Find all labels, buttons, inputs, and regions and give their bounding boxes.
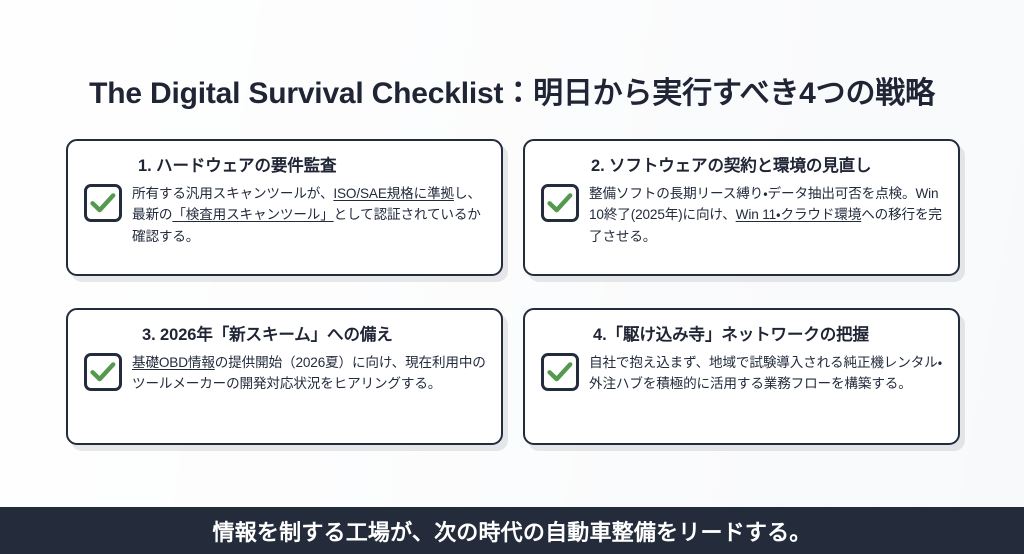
card-heading-2: 2. ソフトウェアの契約と環境の見直し	[591, 156, 945, 177]
check-mark-icon	[547, 192, 573, 214]
checkbox-1[interactable]	[84, 184, 122, 222]
checkbox-wrapper-4	[537, 353, 583, 391]
card-text-1: 所有する汎用スキャンツールが、ISO/SAE規格に準拠し、最新の「検査用スキャン…	[132, 183, 488, 248]
card-heading-3: 3. 2026年「新スキーム」への備え	[142, 325, 488, 346]
check-mark-icon	[547, 361, 573, 383]
card-body-3: 3. 2026年「新スキーム」への備え 基礎OBD情報の提供開始（2026夏）に…	[126, 321, 488, 395]
card-text-4: 自社で抱え込まず、地域で試験導入される純正機レンタル・外注ハブを積極的に活用する…	[589, 352, 945, 395]
bottom-banner: 情報を制する工場が、次の時代の自動車整備をリードする。	[0, 507, 1024, 554]
card-text-3: 基礎OBD情報の提供開始（2026夏）に向け、現在利用中のツールメーカーの開発対…	[132, 352, 488, 395]
checkbox-2[interactable]	[541, 184, 579, 222]
checkbox-3[interactable]	[84, 353, 122, 391]
card-heading-4: 4.「駆け込み寺」ネットワークの把握	[593, 325, 945, 346]
card-body-2: 2. ソフトウェアの契約と環境の見直し 整備ソフトの長期リース縛り・データ抽出可…	[583, 152, 945, 247]
check-mark-icon	[90, 192, 116, 214]
checkbox-wrapper-1	[80, 184, 126, 222]
checklist-card-4[interactable]: 4.「駆け込み寺」ネットワークの把握 自社で抱え込まず、地域で試験導入される純正…	[523, 308, 960, 445]
check-mark-icon	[90, 361, 116, 383]
checkbox-4[interactable]	[541, 353, 579, 391]
checklist-card-grid: 1. ハードウェアの要件監査 所有する汎用スキャンツールが、ISO/SAE規格に…	[66, 139, 960, 445]
banner-text: 情報を制する工場が、次の時代の自動車整備をリードする。	[213, 515, 812, 547]
card-text-2: 整備ソフトの長期リース縛り・データ抽出可否を点検。Win 10終了(2025年)…	[589, 183, 945, 248]
card-body-1: 1. ハードウェアの要件監査 所有する汎用スキャンツールが、ISO/SAE規格に…	[126, 152, 488, 247]
page-title: The Digital Survival Checklist：明日から実行すべき…	[0, 68, 1024, 112]
checklist-card-2[interactable]: 2. ソフトウェアの契約と環境の見直し 整備ソフトの長期リース縛り・データ抽出可…	[523, 139, 960, 276]
checklist-card-3[interactable]: 3. 2026年「新スキーム」への備え 基礎OBD情報の提供開始（2026夏）に…	[66, 308, 503, 445]
checkbox-wrapper-3	[80, 353, 126, 391]
checkbox-wrapper-2	[537, 184, 583, 222]
card-heading-1: 1. ハードウェアの要件監査	[138, 156, 488, 177]
card-body-4: 4.「駆け込み寺」ネットワークの把握 自社で抱え込まず、地域で試験導入される純正…	[583, 321, 945, 395]
slide-canvas: The Digital Survival Checklist：明日から実行すべき…	[0, 0, 1024, 554]
checklist-card-1[interactable]: 1. ハードウェアの要件監査 所有する汎用スキャンツールが、ISO/SAE規格に…	[66, 139, 503, 276]
